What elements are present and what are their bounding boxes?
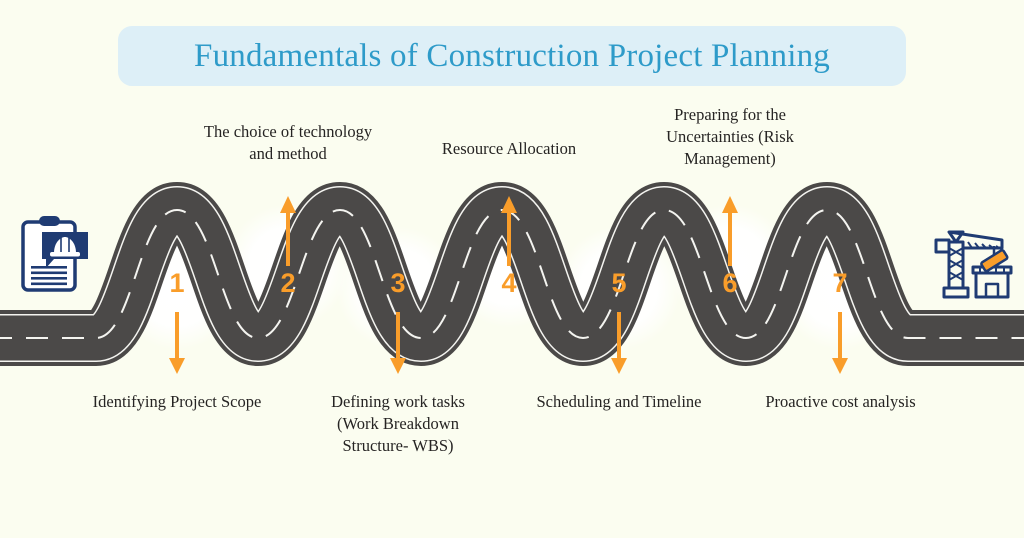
arrow-down-step-3: [388, 312, 408, 376]
step-label-6: Preparing for the Uncertainties (Risk Ma…: [640, 104, 820, 169]
arrow-up-step-6: [720, 194, 740, 266]
step-number-4: 4: [489, 270, 529, 297]
step-label-1: Identifying Project Scope: [62, 391, 292, 413]
page-title: Fundamentals of Construction Project Pla…: [194, 40, 830, 73]
step-label-5-line1: Scheduling and Timeline: [514, 391, 724, 413]
arrow-up-step-2: [278, 194, 298, 266]
step-label-6-line1: Preparing for the: [640, 104, 820, 126]
arrow-down-step-5: [609, 312, 629, 376]
arrow-up-step-4: [499, 194, 519, 266]
step-label-2-line1: The choice of technology: [178, 121, 398, 143]
step-label-7-line1: Proactive cost analysis: [743, 391, 938, 413]
step-number-3: 3: [378, 270, 418, 297]
step-label-3: Defining work tasks (Work Breakdown Stru…: [303, 391, 493, 456]
step-number-7: 7: [820, 270, 860, 297]
step-number-1: 1: [157, 270, 197, 297]
step-label-6-line2: Uncertainties (Risk: [640, 126, 820, 148]
step-number-6: 6: [710, 270, 750, 297]
step-label-1-line1: Identifying Project Scope: [62, 391, 292, 413]
step-label-7: Proactive cost analysis: [743, 391, 938, 413]
step-number-2: 2: [268, 270, 308, 297]
step-label-4: Resource Allocation: [409, 138, 609, 160]
tower-crane-building-icon: [932, 218, 1016, 302]
infographic-canvas: Fundamentals of Construction Project Pla…: [0, 0, 1024, 538]
step-number-5: 5: [599, 270, 639, 297]
arrow-down-step-1: [167, 312, 187, 376]
step-label-6-line3: Management): [640, 148, 820, 170]
clipboard-hardhat-icon: [14, 214, 98, 298]
step-label-3-line1: Defining work tasks: [303, 391, 493, 413]
step-label-3-line2: (Work Breakdown: [303, 413, 493, 435]
page-title-banner: Fundamentals of Construction Project Pla…: [118, 26, 906, 86]
step-label-3-line3: Structure- WBS): [303, 435, 493, 457]
step-label-2-line2: and method: [178, 143, 398, 165]
step-label-2: The choice of technology and method: [178, 121, 398, 165]
arrow-down-step-7: [830, 312, 850, 376]
step-label-4-line1: Resource Allocation: [409, 138, 609, 160]
step-label-5: Scheduling and Timeline: [514, 391, 724, 413]
